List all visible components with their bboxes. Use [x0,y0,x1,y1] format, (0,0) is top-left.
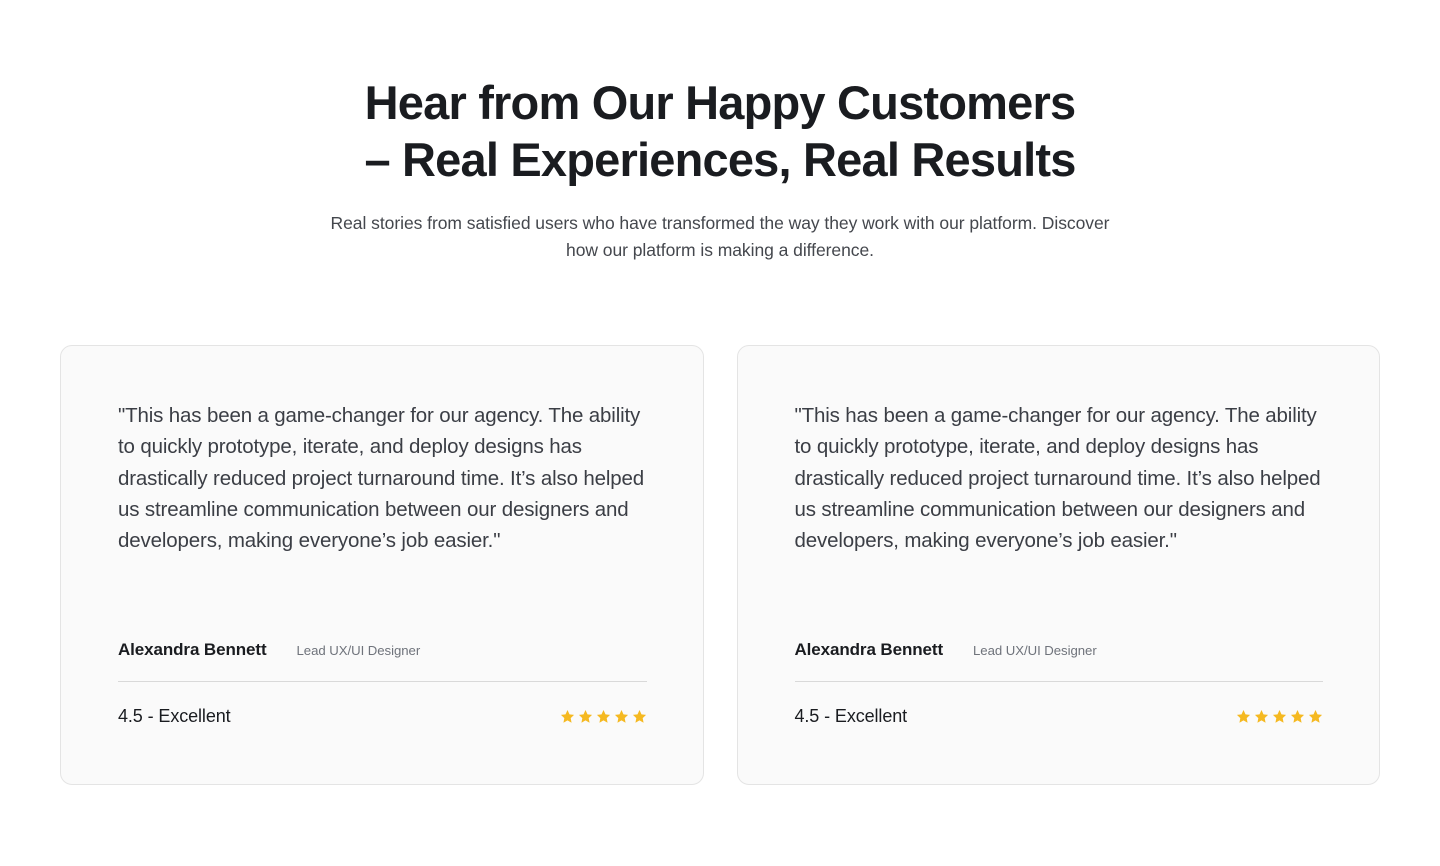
testimonial-footer: Alexandra Bennett Lead UX/UI Designer 4.… [118,640,647,784]
testimonial-author-row: Alexandra Bennett Lead UX/UI Designer [795,640,1324,681]
page-title: Hear from Our Happy Customers – Real Exp… [220,74,1220,188]
testimonial-author-row: Alexandra Bennett Lead UX/UI Designer [118,640,647,681]
star-icon [1254,709,1269,724]
page-subtitle: Real stories from satisfied users who ha… [325,210,1115,264]
testimonial-quote: "This has been a game-changer for our ag… [118,400,647,556]
testimonial-card[interactable]: "This has been a game-changer for our ag… [60,345,704,785]
page-title-line-1: Hear from Our Happy Customers [220,74,1220,131]
testimonial-quote: "This has been a game-changer for our ag… [795,400,1324,556]
testimonials-page: Hear from Our Happy Customers – Real Exp… [0,0,1440,866]
rating-label: 4.5 - Excellent [118,706,231,727]
star-icon [1308,709,1323,724]
testimonial-card[interactable]: "This has been a game-changer for our ag… [737,345,1381,785]
testimonials-grid: "This has been a game-changer for our ag… [60,345,1380,785]
star-icon [578,709,593,724]
star-icon [1272,709,1287,724]
author-role: Lead UX/UI Designer [973,643,1097,658]
star-icon [596,709,611,724]
star-icon [632,709,647,724]
star-icon [614,709,629,724]
testimonial-rating-row: 4.5 - Excellent [118,682,647,727]
author-role: Lead UX/UI Designer [297,643,421,658]
rating-stars [560,709,647,724]
testimonial-rating-row: 4.5 - Excellent [795,682,1324,727]
page-title-line-2: – Real Experiences, Real Results [220,131,1220,188]
testimonial-footer: Alexandra Bennett Lead UX/UI Designer 4.… [795,640,1324,784]
author-name: Alexandra Bennett [118,640,267,660]
star-icon [560,709,575,724]
star-icon [1290,709,1305,724]
page-header: Hear from Our Happy Customers – Real Exp… [0,0,1440,264]
rating-label: 4.5 - Excellent [795,706,908,727]
star-icon [1236,709,1251,724]
author-name: Alexandra Bennett [795,640,944,660]
rating-stars [1236,709,1323,724]
